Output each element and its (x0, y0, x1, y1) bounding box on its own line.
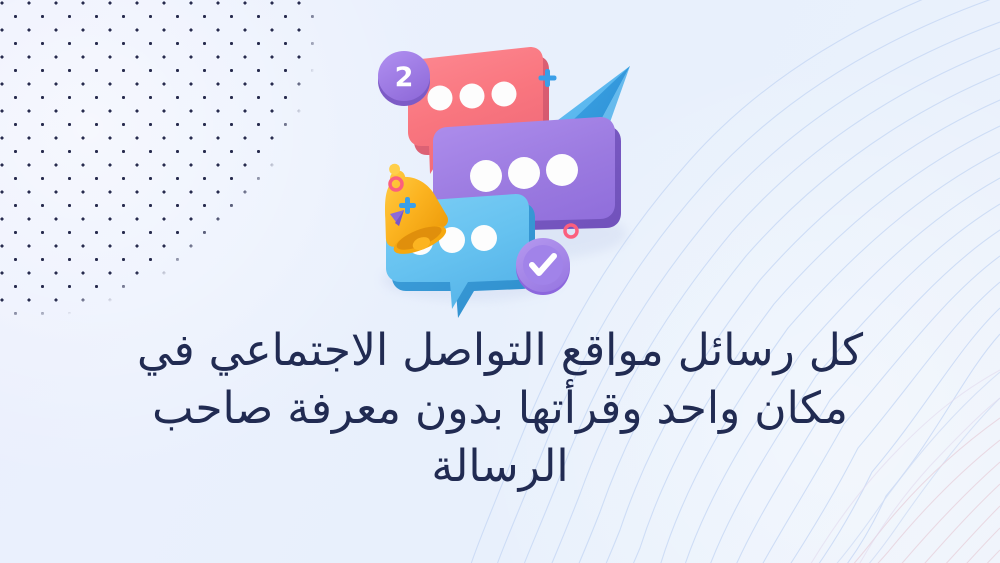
page-headline: كل رسائل مواقع التواصل الاجتماعي في مكان… (0, 322, 1000, 496)
headline-line-2: مكان واحد وقرأتها بدون معرفة صاحب (70, 380, 930, 438)
notification-count-badge: 2 (378, 51, 430, 106)
headline-line-1: كل رسائل مواقع التواصل الاجتماعي في (70, 322, 930, 380)
pink-bubble-dot-2 (460, 84, 485, 109)
headline-line-3: الرسالة (70, 438, 930, 496)
pink-bubble-dot-3 (492, 82, 517, 107)
purple-bubble-dot-2 (508, 157, 540, 189)
dot-grid-pattern (0, 0, 340, 340)
badge-count-text: 2 (395, 62, 414, 93)
blue-bubble-dot-3 (471, 225, 497, 251)
check-circle-icon (516, 238, 570, 295)
poster-canvas: 2 (0, 0, 1000, 563)
purple-bubble-dot-1 (470, 160, 502, 192)
purple-bubble-dot-3 (546, 154, 578, 186)
3d-chat-bubbles-illustration: 2 (352, 34, 642, 320)
pink-bubble-dot-1 (428, 86, 453, 111)
